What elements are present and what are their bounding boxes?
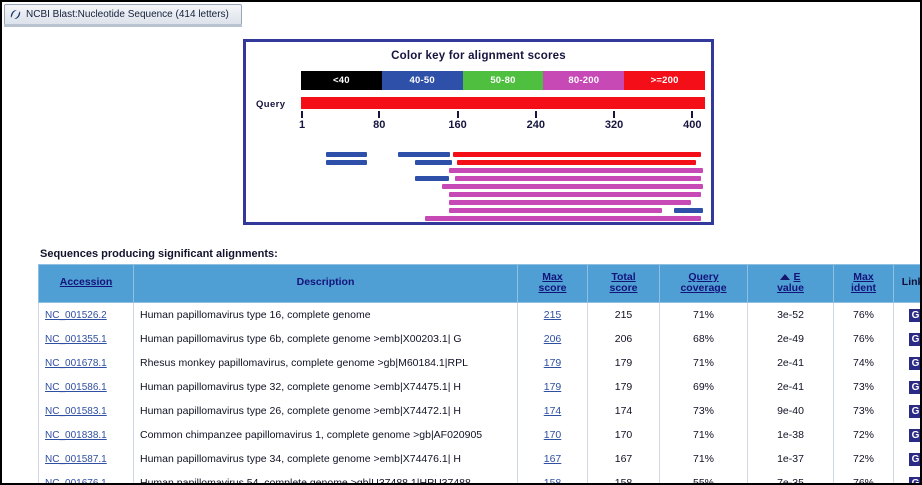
cell-max-score: 167: [518, 447, 588, 471]
alignment-bar-0-2[interactable]: [453, 152, 701, 157]
cell-links: G: [894, 327, 922, 351]
cell-total-score: 170: [588, 423, 660, 447]
results-table: Accession Description Max score Total sc…: [38, 264, 922, 485]
max-score-link[interactable]: 158: [544, 477, 562, 485]
axis-tick-4: [613, 111, 615, 118]
column-header-e-value-line2[interactable]: value: [777, 282, 804, 294]
max-score-link[interactable]: 179: [544, 381, 562, 393]
axis-tick-0: [301, 111, 303, 118]
column-header-query-coverage[interactable]: Query coverage: [660, 265, 748, 303]
axis-tick-label-1: 80: [373, 119, 385, 131]
cell-query-coverage: 71%: [660, 351, 748, 375]
cell-description: Human papillomavirus type 6b, complete g…: [134, 327, 518, 351]
cell-query-coverage: 71%: [660, 447, 748, 471]
alignment-bar-3-1[interactable]: [455, 176, 702, 181]
cell-accession: NC_001678.1: [39, 351, 134, 375]
cell-e-value: 7e-35: [748, 471, 834, 485]
cell-links: G: [894, 399, 922, 423]
cell-max-score: 206: [518, 327, 588, 351]
column-header-query-coverage-line2[interactable]: coverage: [680, 282, 726, 294]
genome-link-badge[interactable]: G: [909, 357, 922, 370]
table-header-row: Accession Description Max score Total sc…: [39, 265, 922, 303]
table-row: NC_001838.1Common chimpanzee papillomavi…: [39, 423, 922, 447]
genome-link-badge[interactable]: G: [909, 429, 922, 442]
alignment-bar-6-0[interactable]: [449, 200, 692, 205]
color-key-segment-label: 50-80: [490, 75, 515, 86]
cell-e-value: 2e-41: [748, 351, 834, 375]
results-heading: Sequences producing significant alignmen…: [40, 248, 278, 260]
sort-ascending-icon[interactable]: [780, 274, 790, 280]
axis-tick-5: [691, 111, 693, 118]
alignment-bar-7-1[interactable]: [674, 208, 703, 213]
cell-max-ident: 72%: [834, 423, 894, 447]
browser-tab-title: NCBI Blast:Nucleotide Sequence (414 lett…: [26, 9, 229, 20]
color-key-segment-3: 80-200: [543, 71, 624, 90]
cell-total-score: 179: [588, 351, 660, 375]
color-key-segment-label: <40: [333, 75, 350, 86]
max-score-link[interactable]: 215: [544, 309, 562, 321]
column-header-accession-label[interactable]: Accession: [60, 276, 113, 288]
column-header-max-score[interactable]: Max score: [518, 265, 588, 303]
column-header-e-value[interactable]: E value: [748, 265, 834, 303]
cell-e-value: 1e-37: [748, 447, 834, 471]
cell-e-value: 2e-41: [748, 375, 834, 399]
column-header-description-label: Description: [297, 276, 355, 288]
alignment-bar-8-0[interactable]: [425, 216, 701, 221]
tab-underline: [4, 24, 242, 27]
color-key-bar: <4040-5050-8080-200>=200: [301, 71, 705, 90]
cell-max-ident: 76%: [834, 327, 894, 351]
cell-accession: NC_001355.1: [39, 327, 134, 351]
position-axis: 180160240320400: [301, 111, 705, 135]
cell-e-value: 9e-40: [748, 399, 834, 423]
cell-total-score: 206: [588, 327, 660, 351]
cell-query-coverage: 55%: [660, 471, 748, 485]
alignment-bar-1-2[interactable]: [457, 160, 697, 165]
cell-description: Common chimpanzee papillomavirus 1, comp…: [134, 423, 518, 447]
accession-link[interactable]: NC_001583.1: [45, 406, 107, 417]
query-label: Query: [256, 99, 285, 110]
table-row: NC_001526.2Human papillomavirus type 16,…: [39, 303, 922, 328]
cell-max-score: 179: [518, 351, 588, 375]
cell-max-score: 158: [518, 471, 588, 485]
column-header-total-score-line2[interactable]: score: [609, 282, 637, 294]
table-row: NC_001586.1Human papillomavirus type 32,…: [39, 375, 922, 399]
cell-max-score: 179: [518, 375, 588, 399]
column-header-total-score[interactable]: Total score: [588, 265, 660, 303]
max-score-link[interactable]: 170: [544, 429, 562, 441]
max-score-link[interactable]: 179: [544, 357, 562, 369]
cell-query-coverage: 73%: [660, 399, 748, 423]
cell-description: Human papillomavirus type 32, complete g…: [134, 375, 518, 399]
cell-total-score: 167: [588, 447, 660, 471]
cell-max-score: 215: [518, 303, 588, 328]
genome-link-badge[interactable]: G: [909, 381, 922, 394]
query-bar[interactable]: [301, 97, 705, 109]
table-row: NC_001355.1Human papillomavirus type 6b,…: [39, 327, 922, 351]
alignment-hit-bars: [246, 152, 711, 228]
cell-description: Human papillomavirus 54, complete genome…: [134, 471, 518, 485]
cell-description: Human papillomavirus type 16, complete g…: [134, 303, 518, 328]
alignment-bar-7-0[interactable]: [449, 208, 662, 213]
max-score-link[interactable]: 174: [544, 405, 562, 417]
genome-link-badge[interactable]: G: [909, 333, 922, 346]
axis-tick-label-4: 320: [605, 119, 623, 131]
table-row: NC_001678.1Rhesus monkey papillomavirus,…: [39, 351, 922, 375]
cell-accession: NC_001583.1: [39, 399, 134, 423]
cell-query-coverage: 71%: [660, 423, 748, 447]
cell-e-value: 2e-49: [748, 327, 834, 351]
accession-link[interactable]: NC_001587.1: [45, 454, 107, 465]
cell-accession: NC_001526.2: [39, 303, 134, 328]
cell-e-value: 3e-52: [748, 303, 834, 328]
alignment-bar-0-1[interactable]: [398, 152, 450, 157]
results-table-body: NC_001526.2Human papillomavirus type 16,…: [39, 303, 922, 485]
cell-max-score: 174: [518, 399, 588, 423]
color-key-segment-4: >=200: [624, 71, 705, 90]
genome-link-badge[interactable]: G: [909, 477, 922, 485]
cell-query-coverage: 71%: [660, 303, 748, 328]
accession-link[interactable]: NC_001678.1: [45, 358, 107, 369]
axis-tick-3: [535, 111, 537, 118]
cell-links: G: [894, 303, 922, 328]
cell-max-ident: 76%: [834, 471, 894, 485]
cell-accession: NC_001676.1: [39, 471, 134, 485]
column-header-links: Links: [894, 265, 922, 303]
axis-tick-2: [457, 111, 459, 118]
axis-tick-1: [378, 111, 380, 118]
column-header-links-label: Links: [902, 276, 922, 288]
cell-max-ident: 73%: [834, 375, 894, 399]
alignment-bar-1-0[interactable]: [326, 160, 366, 165]
cell-max-score: 170: [518, 423, 588, 447]
cell-query-coverage: 68%: [660, 327, 748, 351]
browser-tab[interactable]: NCBI Blast:Nucleotide Sequence (414 lett…: [4, 4, 242, 24]
table-row: NC_001583.1Human papillomavirus type 26,…: [39, 399, 922, 423]
cell-accession: NC_001587.1: [39, 447, 134, 471]
column-header-accession[interactable]: Accession: [39, 265, 134, 303]
table-row: NC_001587.1Human papillomavirus type 34,…: [39, 447, 922, 471]
cell-total-score: 158: [588, 471, 660, 485]
cell-links: G: [894, 375, 922, 399]
alignment-bar-3-0[interactable]: [415, 176, 448, 181]
color-key-segment-label: >=200: [651, 75, 679, 86]
ncbi-swirl-icon: [9, 8, 22, 21]
cell-description: Human papillomavirus type 34, complete g…: [134, 447, 518, 471]
color-key-segment-2: 50-80: [463, 71, 544, 90]
cell-e-value: 1e-38: [748, 423, 834, 447]
alignment-bar-1-1[interactable]: [415, 160, 451, 165]
axis-tick-label-2: 160: [448, 119, 466, 131]
color-key-segment-1: 40-50: [382, 71, 463, 90]
accession-link[interactable]: NC_001676.1: [45, 478, 107, 485]
color-key-segment-label: 40-50: [410, 75, 435, 86]
cell-max-ident: 74%: [834, 351, 894, 375]
cell-max-ident: 72%: [834, 447, 894, 471]
blast-results-screenshot: NCBI Blast:Nucleotide Sequence (414 lett…: [0, 0, 922, 485]
cell-links: G: [894, 447, 922, 471]
color-key-segment-label: 80-200: [568, 75, 599, 86]
column-header-max-ident[interactable]: Max ident: [834, 265, 894, 303]
max-score-link[interactable]: 206: [544, 333, 562, 345]
graphic-summary-panel: Color key for alignment scores <4040-505…: [243, 39, 714, 225]
genome-link-badge[interactable]: G: [909, 453, 922, 466]
genome-link-badge[interactable]: G: [909, 309, 922, 322]
accession-link[interactable]: NC_001586.1: [45, 382, 107, 393]
cell-description: Rhesus monkey papillomavirus, complete g…: [134, 351, 518, 375]
alignment-bar-5-0[interactable]: [449, 192, 701, 197]
alignment-bar-4-0[interactable]: [442, 184, 703, 189]
column-header-max-score-line2[interactable]: score: [538, 282, 566, 294]
cell-query-coverage: 69%: [660, 375, 748, 399]
column-header-max-ident-line2[interactable]: ident: [851, 282, 876, 294]
accession-link[interactable]: NC_001526.2: [45, 310, 107, 321]
cell-max-ident: 76%: [834, 303, 894, 328]
axis-tick-label-3: 240: [527, 119, 545, 131]
cell-accession: NC_001838.1: [39, 423, 134, 447]
color-key-segment-0: <40: [301, 71, 382, 90]
cell-description: Human papillomavirus type 26, complete g…: [134, 399, 518, 423]
cell-accession: NC_001586.1: [39, 375, 134, 399]
cell-links: G: [894, 351, 922, 375]
max-score-link[interactable]: 167: [544, 453, 562, 465]
table-row: NC_001676.1Human papillomavirus 54, comp…: [39, 471, 922, 485]
cell-total-score: 179: [588, 375, 660, 399]
alignment-bar-0-0[interactable]: [326, 152, 366, 157]
column-header-description[interactable]: Description: [134, 265, 518, 303]
accession-link[interactable]: NC_001355.1: [45, 334, 107, 345]
cell-links: G: [894, 471, 922, 485]
genome-link-badge[interactable]: G: [909, 405, 922, 418]
cell-max-ident: 73%: [834, 399, 894, 423]
cell-total-score: 174: [588, 399, 660, 423]
color-key-title: Color key for alignment scores: [246, 50, 711, 62]
alignment-bar-2-0[interactable]: [449, 168, 703, 173]
cell-total-score: 215: [588, 303, 660, 328]
accession-link[interactable]: NC_001838.1: [45, 430, 107, 441]
axis-tick-label-5: 400: [683, 119, 701, 131]
axis-tick-label-0: 1: [299, 119, 305, 131]
cell-links: G: [894, 423, 922, 447]
